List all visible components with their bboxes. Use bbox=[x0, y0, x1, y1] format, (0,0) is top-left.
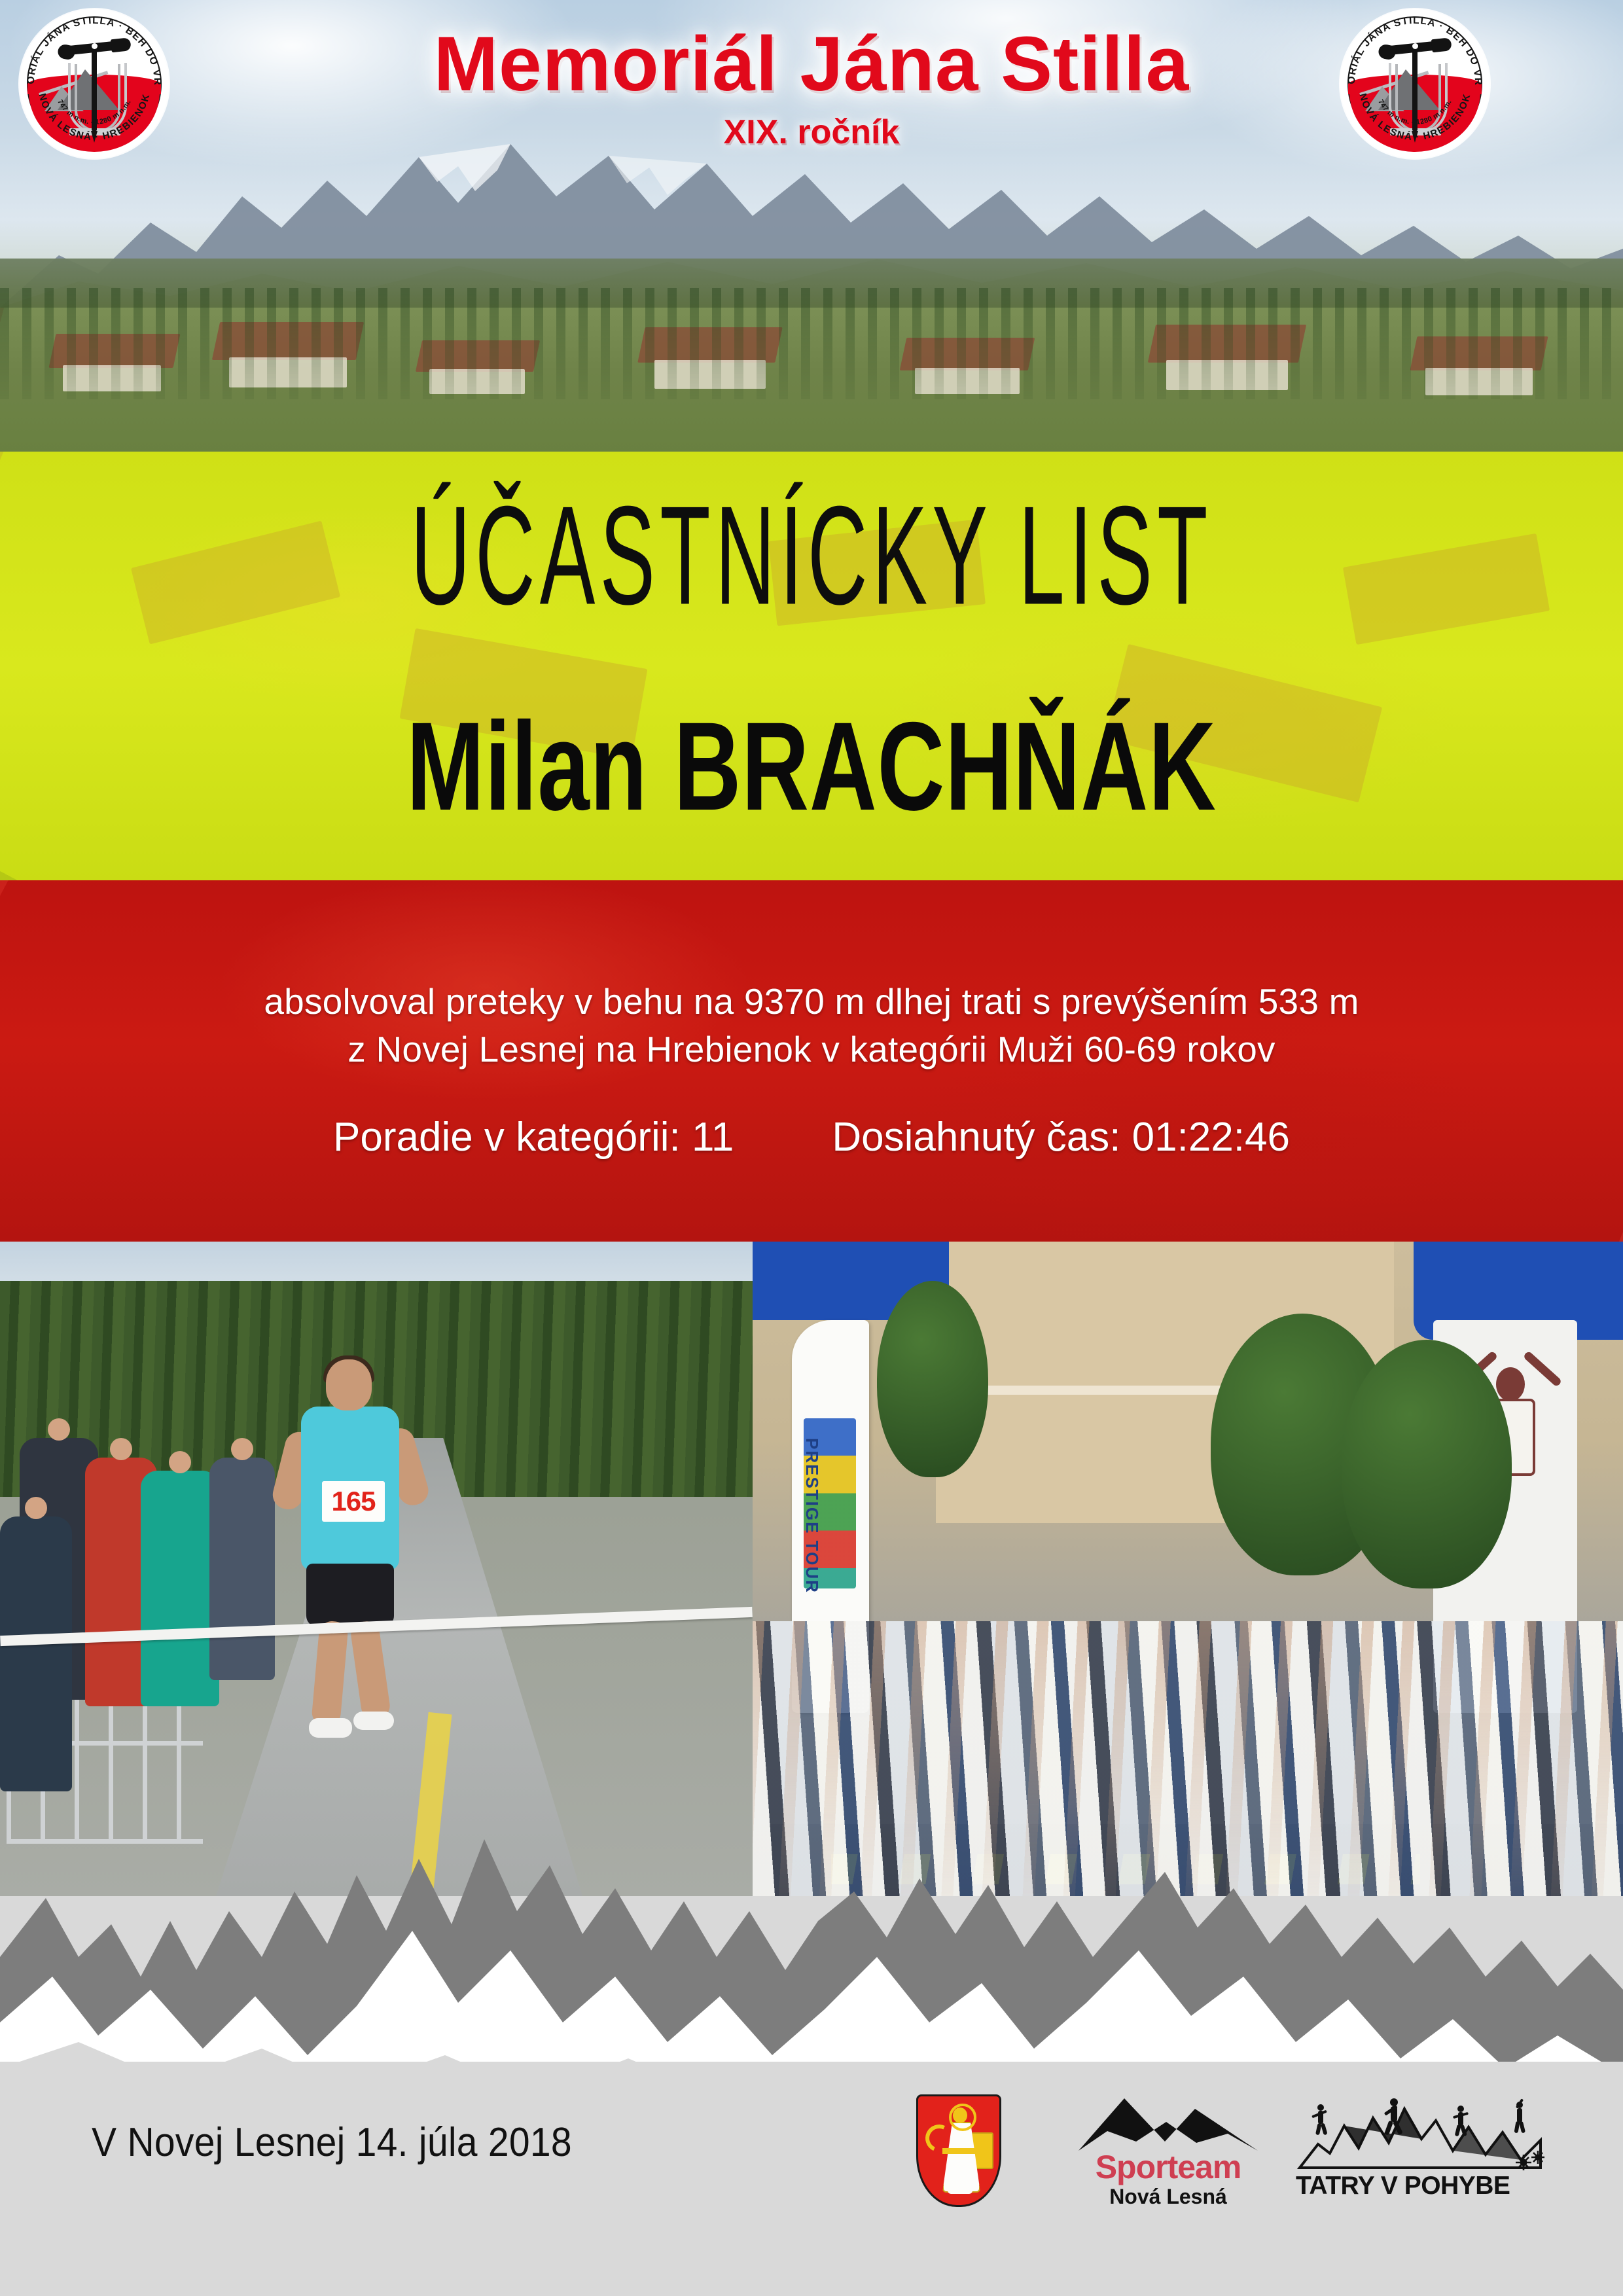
tree-texture bbox=[0, 288, 1623, 399]
event-logo-left: MEMORIÁL JÁNA STILLA · BEH DO VRCHU NOVÁ… bbox=[20, 9, 169, 158]
race-description-line-1: absolvoval preteky v behu na 9370 m dlhe… bbox=[0, 980, 1623, 1022]
finishing-runner: 165 bbox=[275, 1359, 425, 1752]
svg-text:747 m n.m. - 1280 m n.m.: 747 m n.m. - 1280 m n.m. bbox=[1376, 98, 1453, 126]
place-and-date: V Novej Lesnej 14. júla 2018 bbox=[92, 2119, 572, 2166]
runner-shorts bbox=[306, 1564, 394, 1626]
certificate-kind-title: ÚČASTNÍCKY LIST bbox=[227, 486, 1396, 626]
badge-arc-top-text: MEMORIÁL JÁNA STILLA · BEH DO VRCHU bbox=[20, 9, 163, 86]
tree bbox=[877, 1281, 988, 1477]
tatry-v-pohybe-logo: TATRY V POHYBE bbox=[1296, 2094, 1544, 2209]
coat-saint-feet bbox=[948, 2187, 972, 2194]
svg-text:MEMORIÁL JÁNA STILLA · BEH D: MEMORIÁL JÁNA STILLA · BEH DO VRCHU bbox=[20, 9, 163, 86]
runner-leg-left bbox=[311, 1620, 349, 1727]
sporteam-logo: Sporteam Nová Lesná bbox=[1073, 2093, 1263, 2211]
tree bbox=[1342, 1340, 1512, 1588]
coat-saint-sash bbox=[942, 2148, 978, 2154]
sporteam-city: Nová Lesná bbox=[1073, 2185, 1263, 2209]
result-row: Poradie v kategórii: 11 Dosiahnutý čas: … bbox=[0, 1114, 1623, 1160]
spectator bbox=[0, 1516, 72, 1791]
finish-time: Dosiahnutý čas: 01:22:46 bbox=[832, 1114, 1290, 1160]
runner-bib-number: 165 bbox=[322, 1481, 385, 1522]
participant-name: Milan BRACHŇÁK bbox=[162, 704, 1461, 829]
badge-arc-bottom-text: NOVÁ LESNÁ · HREBIENOK bbox=[36, 92, 152, 143]
sporteam-name: Sporteam bbox=[1073, 2148, 1263, 2186]
badge-text-right: MEMORIÁL JÁNA STILLA · BEH DO VRCHU NOVÁ… bbox=[1340, 9, 1489, 158]
runner-head bbox=[326, 1359, 372, 1410]
coat-saint-head bbox=[953, 2108, 967, 2123]
svg-text:NOVÁ LESNÁ · HREBIENOK: NOVÁ LESNÁ · HREBIENOK bbox=[36, 92, 152, 143]
badge-elevation-text: 747 m n.m. - 1280 m n.m. bbox=[1376, 98, 1453, 126]
mural-arm-right bbox=[1523, 1350, 1563, 1388]
sporteam-mountain-icon bbox=[1073, 2093, 1263, 2153]
badge-arc-bottom-text: NOVÁ LESNÁ · HREBIENOK bbox=[1357, 92, 1472, 143]
tatry-mountain-sketch-icon bbox=[1296, 2094, 1544, 2173]
spectator bbox=[209, 1458, 275, 1680]
tatry-name: TATRY V POHYBE bbox=[1296, 2172, 1518, 2200]
runner-shoe-left bbox=[309, 1718, 352, 1738]
banner-text: PRESTIGE TOUR bbox=[802, 1438, 822, 1594]
spectator bbox=[141, 1471, 219, 1706]
svg-text:NOVÁ LESNÁ · HREBIENOK: NOVÁ LESNÁ · HREBIENOK bbox=[1357, 92, 1472, 143]
runner-shoe-right bbox=[353, 1712, 394, 1730]
svg-text:747 m n.m. - 1280 m n.m.: 747 m n.m. - 1280 m n.m. bbox=[56, 98, 132, 126]
building-trim bbox=[949, 1386, 1263, 1395]
badge-elevation-text: 747 m n.m. - 1280 m n.m. bbox=[56, 98, 132, 126]
certificate-page: MEMORIÁL JÁNA STILLA · BEH DO VRCHU NOVÁ… bbox=[0, 0, 1623, 2296]
event-logo-right: MEMORIÁL JÁNA STILLA · BEH DO VRCHU NOVÁ… bbox=[1340, 9, 1489, 158]
nova-lesna-coat-of-arms bbox=[916, 2094, 1001, 2207]
category-rank: Poradie v kategórii: 11 bbox=[333, 1114, 734, 1160]
badge-text-left: MEMORIÁL JÁNA STILLA · BEH DO VRCHU NOVÁ… bbox=[20, 9, 169, 158]
svg-text:MEMORIÁL JÁNA STILLA · BEH D: MEMORIÁL JÁNA STILLA · BEH DO VRCHU bbox=[1340, 9, 1484, 86]
mural-head bbox=[1496, 1367, 1525, 1401]
badge-arc-top-text: MEMORIÁL JÁNA STILLA · BEH DO VRCHU bbox=[1340, 9, 1484, 86]
runner-leg-right bbox=[349, 1620, 391, 1721]
race-description-line-2: z Novej Lesnej na Hrebienok v kategórii … bbox=[0, 1028, 1623, 1070]
